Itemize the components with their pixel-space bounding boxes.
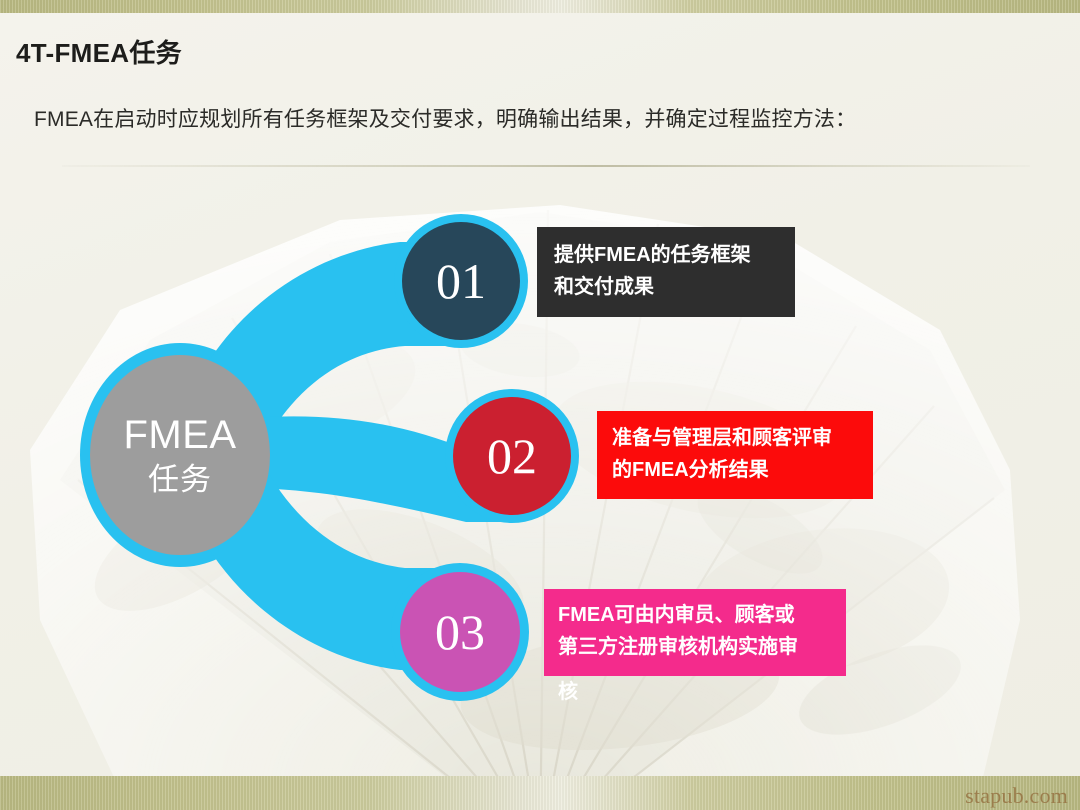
node-circle-01[interactable]: 01 — [402, 222, 520, 340]
hub-label-en: FMEA — [123, 412, 236, 458]
callout-03-line-2: 第三方注册审核机构实施审 — [558, 631, 846, 663]
callout-02-line-2: 的FMEA分析结果 — [612, 454, 873, 486]
callout-box-02: 准备与管理层和顾客评审 的FMEA分析结果 — [597, 411, 873, 499]
callout-box-03: FMEA可由内审员、顾客或 第三方注册审核机构实施审 — [544, 589, 846, 676]
hub-circle[interactable]: FMEA 任务 — [90, 355, 270, 555]
header-divider — [62, 165, 1030, 167]
callout-02-line-1: 准备与管理层和顾客评审 — [612, 422, 873, 454]
node-circle-02[interactable]: 02 — [453, 397, 571, 515]
callout-01-line-2: 和交付成果 — [554, 271, 795, 303]
page-title: 4T-FMEA任务 — [16, 33, 182, 70]
callout-03-overflow-line: 核 — [544, 676, 846, 708]
callout-01-line-1: 提供FMEA的任务框架 — [554, 239, 795, 271]
page-subtitle: FMEA在启动时应规划所有任务框架及交付要求，明确输出结果，并确定过程监控方法： — [34, 103, 856, 133]
bottom-gold-bar — [0, 776, 1080, 810]
top-gold-bar — [0, 0, 1080, 13]
node-circle-03[interactable]: 03 — [400, 572, 520, 692]
hub-label-cn: 任务 — [148, 462, 212, 498]
site-watermark: stapub.com — [965, 783, 1068, 809]
callout-03-line-1: FMEA可由内审员、顾客或 — [558, 599, 846, 631]
slide-canvas: FMEA 任务 01 02 03 提供FMEA的任务框架 和交付成果 准备与管理… — [0, 0, 1080, 810]
callout-box-01: 提供FMEA的任务框架 和交付成果 — [537, 227, 795, 317]
